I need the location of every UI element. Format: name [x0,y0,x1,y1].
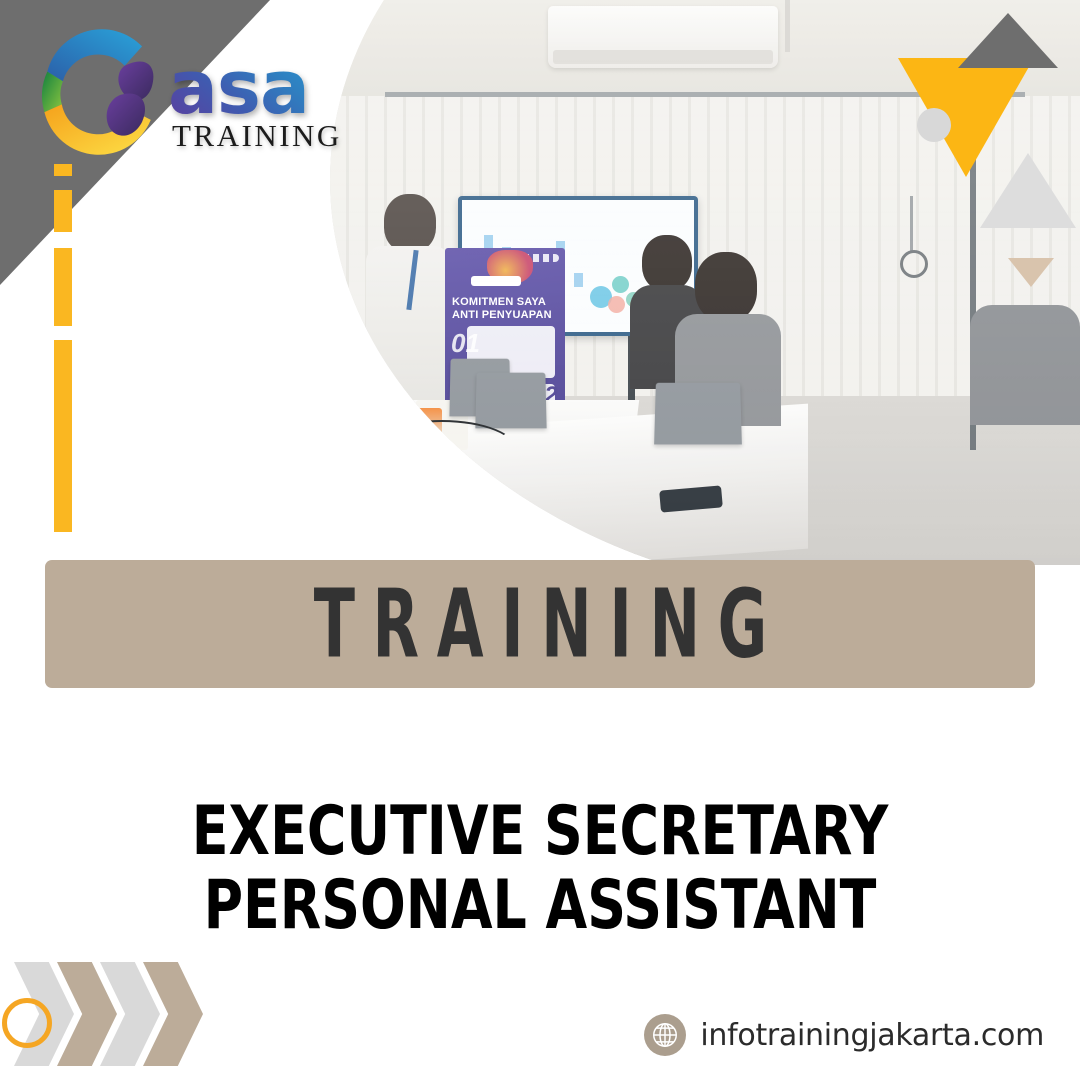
wall-hook-icon [900,250,928,278]
yellow-dash-3 [54,248,72,326]
participant-3 [970,285,1080,425]
orange-ring-icon [2,998,52,1048]
website-footer[interactable]: infotrainingjakarta.com [644,1014,1044,1056]
poster-canvas: KOMITMEN SAYA ANTI PENYUAPAN 01 02 [0,0,1080,1080]
yellow-dash-2 [54,190,72,232]
yellow-dash-4 [54,340,72,532]
tan-triangle-down [1008,258,1054,287]
banner-number-1: 01 [451,328,480,359]
gray-circle [917,108,951,142]
dashboard-bubble-4 [608,296,625,313]
dashboard-bubble-2 [612,276,629,293]
participant-3-body [970,305,1080,425]
power-cable [365,420,519,484]
training-banner: TRAINING [45,560,1035,688]
training-banner-label: TRAINING [296,569,785,679]
yellow-dash-1 [54,164,72,176]
brand-logo[interactable]: asa TRAINING [28,14,348,174]
laptop-2 [475,373,546,429]
circular-segments-logo-icon [28,14,173,162]
logo-subtitle: TRAINING [168,118,342,154]
page-title: EXECUTIVE SECRETARY PERSONAL ASSISTANT [100,795,980,943]
hook-line [910,196,913,252]
laptop-3 [654,383,742,445]
gray-triangle-up [958,13,1058,68]
participant-2-head [695,252,757,322]
website-url[interactable]: infotrainingjakarta.com [700,1018,1044,1053]
banner-headline-line2: ANTI PENYUAPAN [452,309,552,321]
banner-headline: KOMITMEN SAYA ANTI PENYUAPAN [452,296,560,322]
light-triangle-up [980,153,1076,228]
ac-pipe [785,0,790,52]
globe-icon [644,1014,686,1056]
dashboard-bar-6 [574,273,583,287]
logo-name: asa [168,54,342,122]
air-conditioner [548,6,778,68]
banner-logo [471,276,521,286]
banner-headline-line1: KOMITMEN SAYA [452,296,546,308]
presenter-head [384,194,436,252]
logo-wordmark: asa TRAINING [168,54,342,154]
